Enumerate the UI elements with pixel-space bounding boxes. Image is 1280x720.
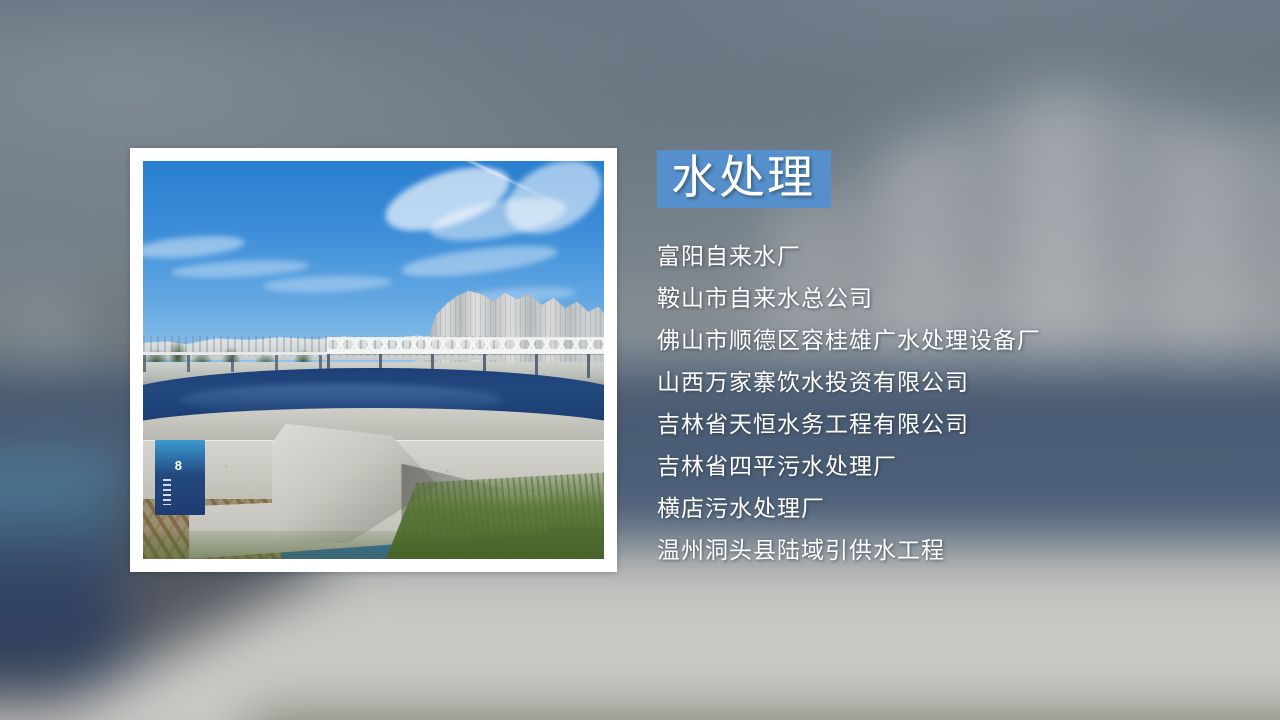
photo-blue-sign: 8 xyxy=(155,440,206,516)
background-blue-sign xyxy=(0,461,122,681)
page-title-badge: 水处理 xyxy=(657,150,831,208)
sign-text-lines xyxy=(163,479,171,505)
company-list: 富阳自来水厂 鞍山市自来水总公司 佛山市顺德区容桂雄广水处理设备厂 山西万家寨饮… xyxy=(657,236,1217,572)
background-grass xyxy=(249,699,1280,720)
slide-root: 8 水处理 富阳自来水厂 鞍山市自来水总公司 佛山市顺德区容桂雄广水处理设备厂 … xyxy=(0,0,1280,720)
photo-secondary-walkway xyxy=(143,344,346,372)
list-item: 吉林省四平污水处理厂 xyxy=(657,446,1217,488)
list-item: 富阳自来水厂 xyxy=(657,236,1217,278)
photo-frame: 8 xyxy=(130,148,617,572)
list-item: 吉林省天恒水务工程有限公司 xyxy=(657,404,1217,446)
page-title: 水处理 xyxy=(671,150,815,204)
list-item: 鞍山市自来水总公司 xyxy=(657,278,1217,320)
list-item: 佛山市顺德区容桂雄广水处理设备厂 xyxy=(657,320,1217,362)
list-item: 横店污水处理厂 xyxy=(657,488,1217,530)
list-item: 山西万家寨饮水投资有限公司 xyxy=(657,362,1217,404)
water-treatment-plant-photo: 8 xyxy=(143,161,604,559)
photo-grass-foreground xyxy=(143,531,604,559)
list-item: 温州洞头县陆域引供水工程 xyxy=(657,530,1217,572)
content-panel: 水处理 富阳自来水厂 鞍山市自来水总公司 佛山市顺德区容桂雄广水处理设备厂 山西… xyxy=(657,150,1217,572)
sign-number: 8 xyxy=(175,458,182,473)
